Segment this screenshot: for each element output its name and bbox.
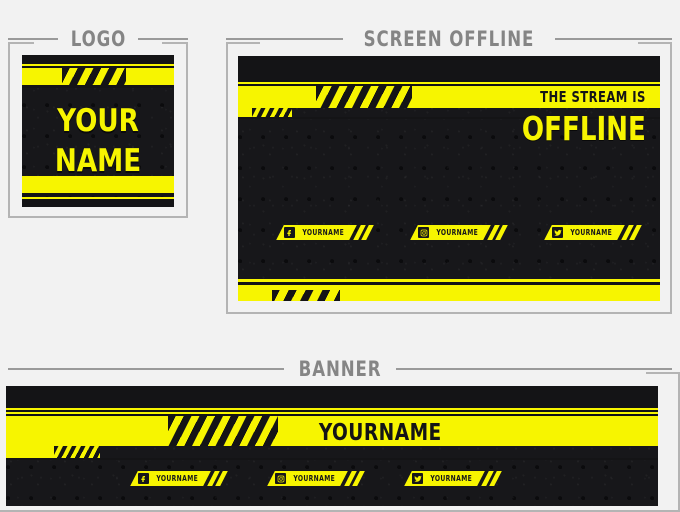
offline-social-badge-instagram[interactable]: YOURNAME <box>414 225 504 240</box>
badge-chip: YOURNAME <box>410 225 491 240</box>
logo-bottom-black-bar <box>22 199 174 207</box>
rule-right <box>138 38 188 40</box>
banner-hazard-stripes <box>168 416 278 446</box>
badge-label: YOURNAME <box>430 474 472 483</box>
offline-hazard-stripes-small <box>252 108 292 117</box>
logo-name-line-2: NAME <box>27 143 170 179</box>
instagram-icon <box>275 473 286 484</box>
badge-chip: YOURNAME <box>276 225 357 240</box>
rule-right <box>555 38 672 40</box>
logo-frame-top-left <box>8 42 34 44</box>
badge-chip: YOURNAME <box>404 471 485 486</box>
banner-social-badge-twitter[interactable]: YOURNAME <box>408 471 498 486</box>
offline-headline-large: OFFLINE <box>522 109 646 148</box>
badge-chip: YOURNAME <box>130 471 211 486</box>
offline-frame-top-left <box>226 42 260 44</box>
logo-artwork[interactable]: YOUR NAME <box>22 55 174 207</box>
logo-hazard-stripes <box>62 68 126 85</box>
badge-label: YOURNAME <box>156 474 198 483</box>
logo-name-line-1: YOUR <box>27 103 170 139</box>
logo-bottom-rule-1 <box>22 193 174 196</box>
rule-left <box>8 368 284 370</box>
offline-screen-artwork[interactable]: THE STREAM IS OFFLINE YOURNAME YOURNAME … <box>238 56 660 301</box>
banner-social-badge-facebook[interactable]: YOURNAME <box>134 471 224 486</box>
badge-label: YOURNAME <box>293 474 335 483</box>
badge-chip: YOURNAME <box>267 471 348 486</box>
banner-band-underline <box>6 458 658 460</box>
facebook-icon <box>284 227 295 238</box>
badge-label: YOURNAME <box>570 228 612 237</box>
offline-social-badge-facebook[interactable]: YOURNAME <box>280 225 370 240</box>
badge-label: YOURNAME <box>302 228 344 237</box>
rule-left <box>8 38 58 40</box>
banner-frame-top-right <box>646 372 680 374</box>
offline-top-black-bar <box>238 56 660 82</box>
logo-top-black-bar <box>22 55 174 64</box>
twitter-icon <box>552 227 563 238</box>
banner-artwork[interactable]: YOURNAME YOURNAME YOURNAME YOURNAME <box>6 386 658 506</box>
offline-hazard-stripes <box>316 86 412 108</box>
banner-social-badge-instagram[interactable]: YOURNAME <box>271 471 361 486</box>
offline-social-badge-twitter[interactable]: YOURNAME <box>548 225 638 240</box>
logo-frame-top-right <box>162 42 188 44</box>
offline-frame-top-right <box>638 42 672 44</box>
facebook-icon <box>138 473 149 484</box>
banner-top-black-bar <box>6 386 658 408</box>
offline-headline-small: THE STREAM IS <box>540 88 646 106</box>
banner-hazard-stripes-small <box>54 446 100 458</box>
logo-band-underline <box>22 85 174 88</box>
instagram-icon <box>418 227 429 238</box>
badge-chip: YOURNAME <box>544 225 625 240</box>
rule-left <box>226 38 343 40</box>
twitter-icon <box>412 473 423 484</box>
offline-bottom-hazard-stripes <box>272 290 340 301</box>
logo-bottom-yellow-band <box>22 176 174 193</box>
badge-label: YOURNAME <box>436 228 478 237</box>
banner-name: YOURNAME <box>319 420 442 446</box>
rule-right <box>396 368 672 370</box>
